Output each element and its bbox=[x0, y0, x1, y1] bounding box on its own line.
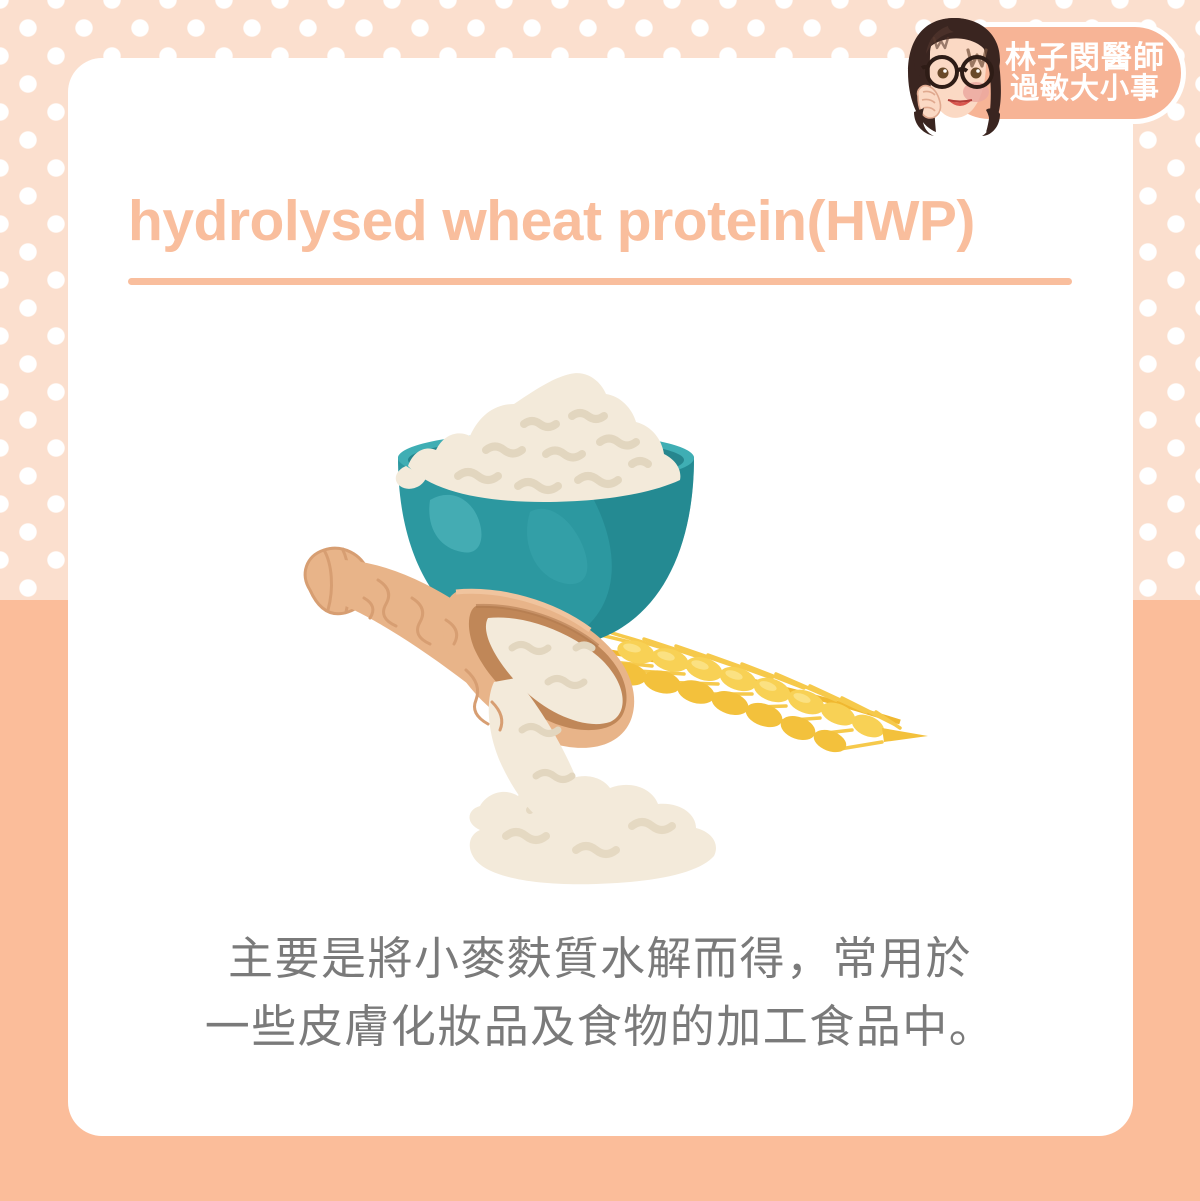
caption-line-2: 一些皮膚化妝品及食物的加工食品中。 bbox=[110, 993, 1090, 1061]
flour-mound-icon bbox=[396, 373, 681, 502]
author-name: 林子閔醫師 bbox=[1005, 41, 1165, 74]
caption-line-1: 主要是將小麥麩質水解而得，常用於 bbox=[110, 925, 1090, 993]
page-title: hydrolysed wheat protein(HWP) bbox=[128, 188, 1078, 254]
author-badge-text: 林子閔醫師 過敏大小事 bbox=[1005, 41, 1165, 106]
poster-root: 林子閔醫師 過敏大小事 bbox=[0, 0, 1200, 1201]
title-underline bbox=[128, 278, 1072, 285]
caption-text: 主要是將小麥麩質水解而得，常用於 一些皮膚化妝品及食物的加工食品中。 bbox=[110, 925, 1090, 1062]
author-tagline: 過敏大小事 bbox=[1010, 74, 1160, 105]
flour-bowl-illustration bbox=[280, 330, 940, 910]
spilled-flour-icon bbox=[470, 776, 716, 884]
doctor-avatar-icon bbox=[890, 10, 1018, 138]
